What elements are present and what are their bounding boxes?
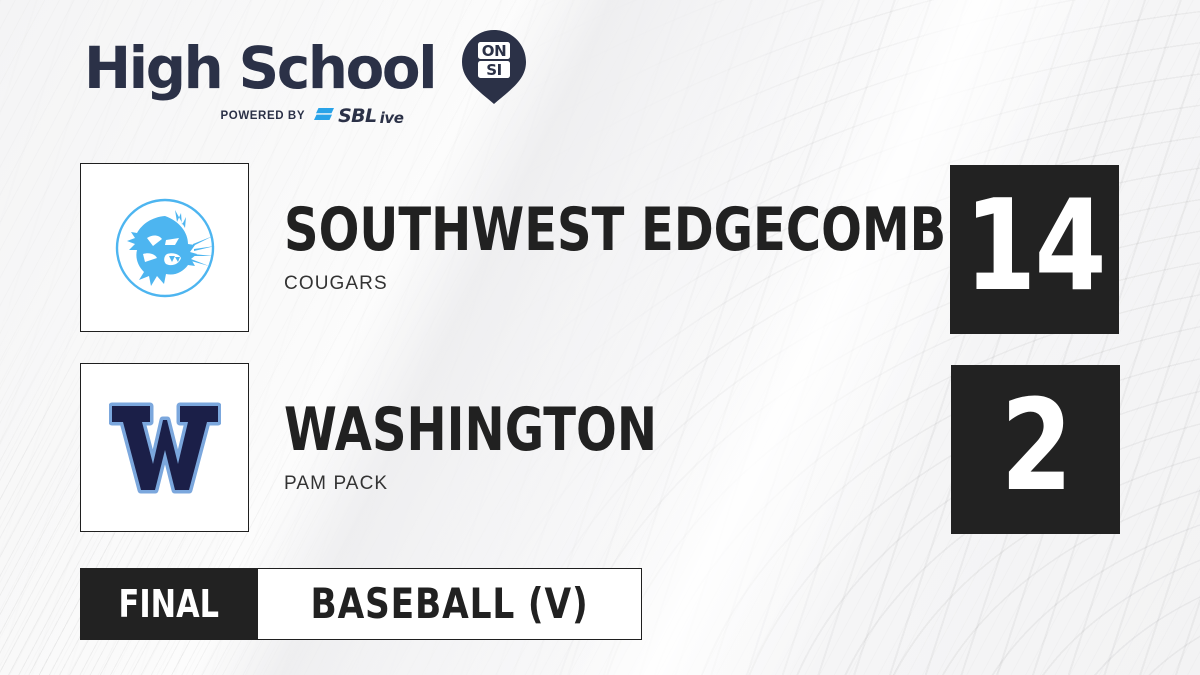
status-bar: FINAL BASEBALL (V) <box>80 568 642 640</box>
sblive-wordmark-primary: SBL <box>338 107 376 126</box>
washington-w-logo <box>109 398 221 498</box>
team-logo-box <box>80 163 249 332</box>
cougar-head-circle-logo <box>109 192 221 304</box>
team-score: 14 <box>964 183 1105 309</box>
team-score-box: 14 <box>950 165 1119 334</box>
scoreboard-graphic: High School ON SI POWERED BY <box>0 0 1200 675</box>
team-name: SOUTHWEST EDGECOMBE <box>284 201 979 259</box>
sport-label: BASEBALL (V) <box>310 583 588 625</box>
team-logo-box <box>80 363 249 532</box>
brand-header: High School ON SI POWERED BY <box>84 34 504 134</box>
sblive-s-mark-icon <box>313 107 335 126</box>
team-row: SOUTHWEST EDGECOMBE COUGARS 14 <box>0 163 1200 335</box>
status-state-label: FINAL <box>119 585 219 623</box>
team-name: WASHINGTON <box>284 401 657 459</box>
team-row: WASHINGTON PAM PACK 2 <box>0 363 1200 535</box>
powered-by-row: POWERED BY SBL ive <box>84 106 504 126</box>
brand-title-row: High School ON SI <box>84 34 504 102</box>
sblive-wordmark-secondary: ive <box>380 109 404 128</box>
team-score-box: 2 <box>951 365 1120 534</box>
team-text-block: WASHINGTON PAM PACK <box>284 363 750 532</box>
team-score: 2 <box>1000 383 1070 509</box>
sport-badge: BASEBALL (V) <box>258 568 642 640</box>
powered-by-label: POWERED BY <box>221 110 306 122</box>
page-title: High School <box>84 39 435 97</box>
svg-text:SI: SI <box>486 61 502 79</box>
onsi-pin-icon: ON SI <box>458 28 530 106</box>
team-mascot: PAM PACK <box>284 473 750 495</box>
status-badge: FINAL <box>80 568 258 640</box>
svg-text:ON: ON <box>482 42 507 60</box>
sblive-logo: SBL ive <box>313 107 403 126</box>
